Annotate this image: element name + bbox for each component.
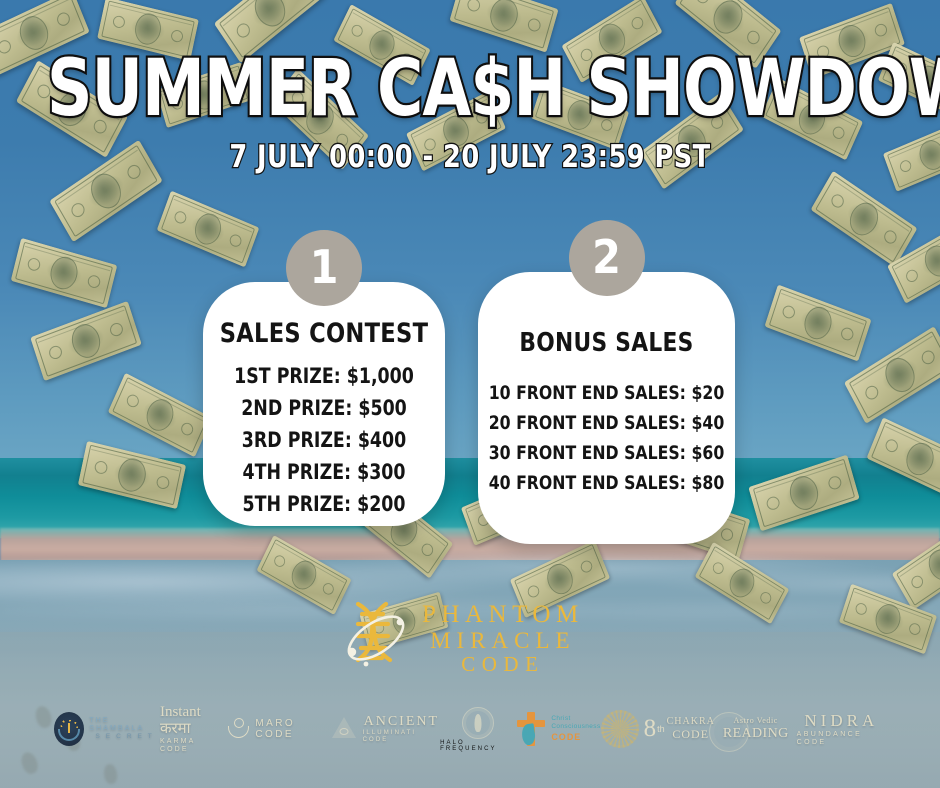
chakra-ordinal-suffix: th — [657, 724, 665, 734]
partner-line-1: Astro Vedic — [734, 716, 778, 725]
partner-logo-maro-code: MARO CODE — [227, 716, 329, 742]
halo-sunburst-icon — [462, 707, 494, 739]
list-item: 2ND PRIZE: $500 — [213, 392, 436, 424]
list-item: 4TH PRIZE: $300 — [213, 456, 436, 488]
list-item: 10 FRONT END SALES: $20 — [488, 378, 724, 408]
partner-logo-christ-consciousness-code: Christ Consciousness CODE — [516, 712, 600, 746]
poster-title: SUMMER CA$H SHOWDOWN — [47, 52, 893, 127]
brand-line-2: MIRACLE — [430, 629, 576, 653]
prize-card-sales-contest: 1 SALES CONTEST 1ST PRIZE: $1,000 2ND PR… — [203, 282, 445, 526]
partner-line-2: ABUNDANCE CODE — [797, 731, 886, 747]
partner-line-1: Instant करमा — [160, 704, 227, 739]
list-item: 30 FRONT END SALES: $60 — [488, 438, 724, 468]
shambala-emblem-icon — [54, 712, 84, 746]
partner-line-1: THE SHAMBALA — [89, 717, 160, 733]
partner-logo-instant-karma-code: Instant करमा KARMA CODE — [160, 704, 227, 755]
partner-line-2: KARMA CODE — [160, 738, 227, 754]
partner-line-1: ANCIENT — [364, 714, 439, 730]
partner-logo-astro-vedic-reading: Astro Vedic READING — [715, 716, 797, 741]
chakra-number: 8 — [644, 716, 657, 741]
poster-subtitle: 7 JULY 00:00 - 20 JULY 23:59 PST — [38, 139, 903, 175]
dna-helix-orbit-icon — [336, 598, 412, 680]
mandala-icon — [601, 710, 639, 748]
meditation-figure-icon — [227, 716, 250, 742]
prize-list: 1ST PRIZE: $1,000 2ND PRIZE: $500 3RD PR… — [203, 360, 445, 520]
list-item: 5TH PRIZE: $200 — [213, 488, 436, 520]
brand-logo: PHANTOM MIRACLE CODE — [336, 596, 604, 682]
partner-line-1: Christ — [551, 715, 600, 723]
partner-line-2: READING — [723, 726, 789, 742]
partner-logo-shambala-secret: THE SHAMBALA S E C R E T — [54, 712, 160, 746]
cross-flame-icon — [516, 712, 546, 746]
list-item: 1ST PRIZE: $1,000 — [213, 360, 436, 392]
prize-card-bonus-sales: 2 BONUS SALES 10 FRONT END SALES: $20 20… — [478, 272, 735, 544]
partner-line-2: Consciousness — [551, 723, 600, 731]
partner-logo-ancient-illuminati-code: ANCIENT ILLUMINATI CODE — [330, 714, 440, 744]
card-badge-number: 1 — [286, 230, 362, 306]
list-item: 40 FRONT END SALES: $80 — [488, 468, 724, 498]
nidra-wordmark-icon: NIDRA ABUNDANCE CODE — [797, 711, 886, 747]
header-block: SUMMER CA$H SHOWDOWN 7 JULY 00:00 - 20 J… — [0, 52, 940, 175]
brand-wordmark: PHANTOM MIRACLE CODE — [422, 602, 584, 675]
list-item: 20 FRONT END SALES: $40 — [488, 408, 724, 438]
pyramid-eye-icon — [330, 714, 358, 744]
partner-line-1: NIDRA — [804, 711, 878, 731]
partner-logo-strip: THE SHAMBALA S E C R E T Instant करमा KA… — [0, 696, 940, 762]
card-badge-number: 2 — [569, 220, 645, 296]
promotional-poster: SUMMER CA$H SHOWDOWN 7 JULY 00:00 - 20 J… — [0, 0, 940, 788]
brand-line-3: CODE — [461, 653, 544, 675]
partner-logo-nidra-abundance-code: NIDRA ABUNDANCE CODE — [797, 711, 886, 747]
partner-line-2: ILLUMINATI CODE — [363, 730, 440, 744]
bonus-list: 10 FRONT END SALES: $20 20 FRONT END SAL… — [478, 378, 735, 498]
partner-line-3: CODE — [551, 732, 600, 743]
partner-line-2: CODE — [672, 728, 709, 742]
partner-line-2: HALO FREQUENCY — [440, 740, 516, 752]
partner-line-1: MARO CODE — [255, 718, 329, 741]
brand-line-1: PHANTOM — [422, 602, 584, 629]
partner-logo-8th-chakra-code: 8 th CHAKRA CODE — [601, 710, 715, 748]
list-item: 3RD PRIZE: $400 — [213, 424, 436, 456]
karma-wordmark-icon: Instant करमा KARMA CODE — [160, 704, 227, 755]
partner-logo-halo-frequency: HALO FREQUENCY — [440, 707, 516, 752]
partner-line-2: S E C R E T — [95, 733, 153, 740]
